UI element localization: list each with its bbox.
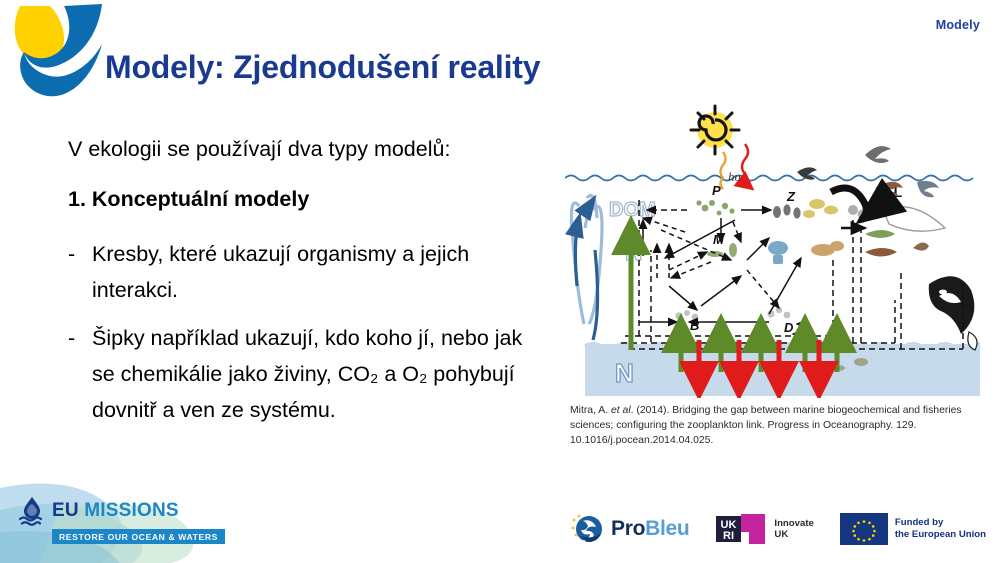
probleu-mark-icon xyxy=(570,512,604,546)
figure-label-dom: DOM xyxy=(609,199,656,221)
sea-surface-line xyxy=(565,176,973,181)
figure-label-zooplankton: Z xyxy=(786,189,796,204)
content-text-column: V ekologii se používají dva typy modelů:… xyxy=(68,136,548,440)
eu-missions-word-eu: EU xyxy=(52,500,84,521)
marine-food-web-figure: N hυ xyxy=(565,100,980,398)
partner-logo-bar: ProBleu UK RI Innovate UK xyxy=(570,512,986,546)
ukri-innovate-uk-logo: UK RI Innovate UK xyxy=(715,512,813,546)
lead-paragraph: V ekologii se používají dva typy modelů: xyxy=(68,136,548,163)
eu-missions-logo: EU MISSIONS RESTORE OUR OCEAN & WATERS xyxy=(18,496,225,544)
food-web-diagram-svg: N hυ xyxy=(565,100,980,398)
water-drop-waves-icon xyxy=(18,496,46,526)
probleu-text-pro: Pro xyxy=(611,517,645,540)
funded-by-line2: the European Union xyxy=(895,529,986,540)
small-bird-icon xyxy=(797,167,817,179)
benthic-layer: N xyxy=(585,344,980,396)
eu-flag-icon xyxy=(840,513,888,545)
figure-caption: Mitra, A. et al. (2014). Bridging the ga… xyxy=(570,404,970,448)
probleu-wordmark: ProBleu xyxy=(611,517,689,541)
innovate-uk-line1: Innovate xyxy=(774,518,813,529)
figure-label-phytoplankton: P xyxy=(712,183,721,198)
fish-green-icon xyxy=(865,230,895,238)
sun-icon xyxy=(691,106,739,154)
slide-canvas: Modely Modely: Zjednodušení reality V ek… xyxy=(0,0,1000,563)
figure-label-photon: hυ xyxy=(728,169,741,184)
innovate-uk-text: Innovate UK xyxy=(774,518,813,541)
orca-icon xyxy=(929,276,975,334)
bullet-text: Šipky například ukazují, kdo koho jí, ne… xyxy=(92,320,548,428)
bullet-text: Kresby, které ukazují organismy a jejich… xyxy=(92,236,548,308)
caption-part-1: Mitra, A. xyxy=(570,405,611,416)
eu-missions-wordmark: EU MISSIONS xyxy=(52,500,179,522)
grey-bird-icon xyxy=(917,181,939,197)
innovate-uk-line2: UK xyxy=(774,529,788,540)
header-section-tag: Modely xyxy=(936,18,980,32)
eu-missions-word-missions: MISSIONS xyxy=(84,500,179,521)
caption-italic: et al xyxy=(611,405,631,416)
photon-squiggle-orange xyxy=(721,152,726,189)
fish-brown-icon xyxy=(865,248,897,257)
funded-by-eu-logo: Funded by the European Union xyxy=(840,513,986,545)
funded-by-eu-text: Funded by the European Union xyxy=(895,517,986,541)
list-item: - Kresby, které ukazují organismy a jeji… xyxy=(68,236,548,308)
funded-by-line1: Funded by xyxy=(895,517,944,528)
bullet-marker: - xyxy=(68,320,92,428)
eu-mission-swoosh-logo-icon xyxy=(6,2,110,106)
fishing-net-icon xyxy=(883,207,945,232)
probleu-logo: ProBleu xyxy=(570,512,689,546)
figure-label-detritus: D xyxy=(784,320,794,335)
bullet-marker: - xyxy=(68,236,92,308)
probleu-text-bleu: Bleu xyxy=(645,517,689,540)
ukri-mark-icon: UK RI xyxy=(715,512,767,546)
list-item: - Šipky například ukazují, kdo koho jí, … xyxy=(68,320,548,428)
shrimp-icon xyxy=(913,242,929,250)
eu-missions-tagline: RESTORE OUR OCEAN & WATERS xyxy=(52,529,225,544)
svg-text:RI: RI xyxy=(723,530,734,542)
seabird-icon xyxy=(865,146,891,163)
page-title: Modely: Zjednodušení reality xyxy=(105,49,540,86)
water-circulation-loop xyxy=(571,196,602,341)
section-heading-1: 1. Konceptuální modely xyxy=(68,187,548,212)
figure-label-mixotroph: M xyxy=(713,232,725,247)
figure-label-benthic-nutrient: N xyxy=(615,358,634,388)
eu-missions-row: EU MISSIONS xyxy=(18,496,179,526)
